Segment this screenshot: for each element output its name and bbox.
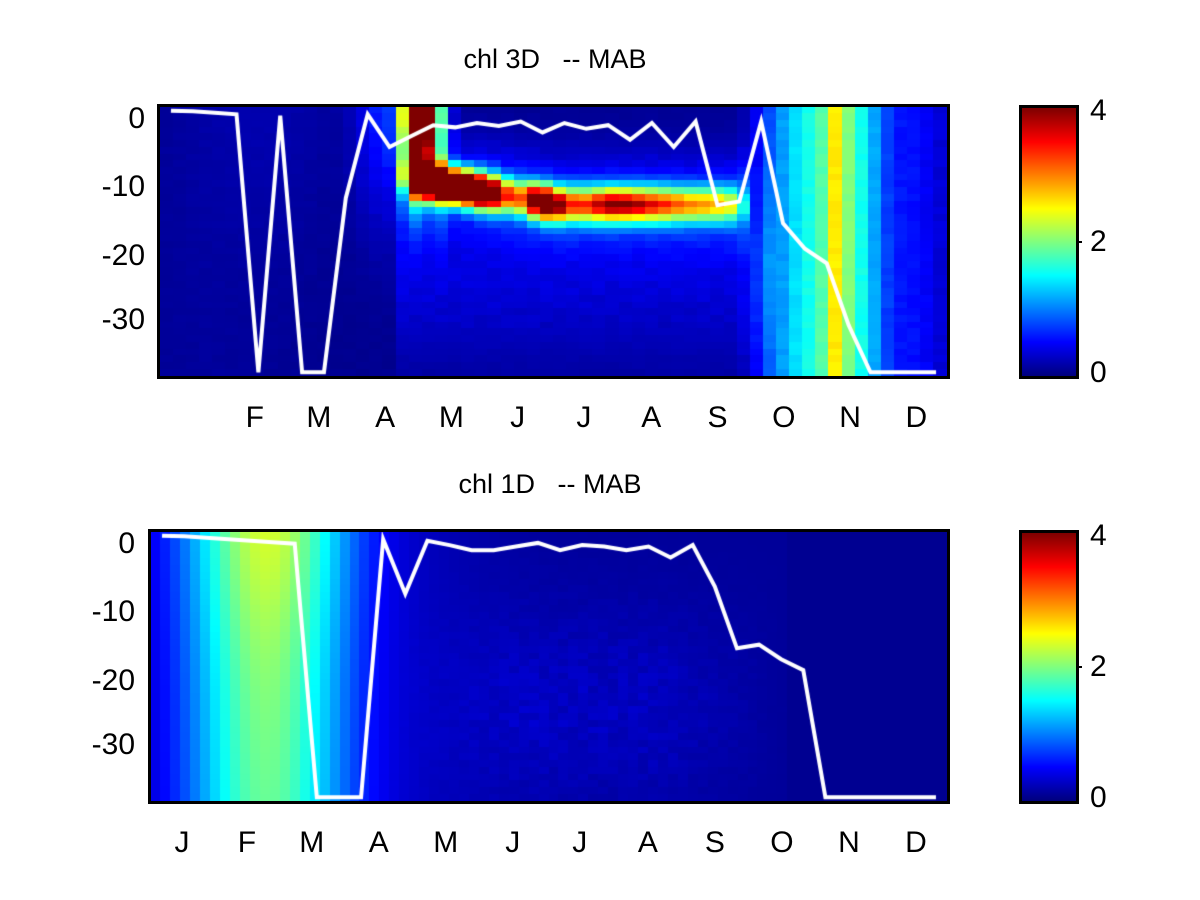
colorbar-top bbox=[1019, 105, 1079, 379]
xtick-chl-1d-N-10: N bbox=[824, 828, 874, 858]
ytick-chl-1d-0: 0 bbox=[50, 529, 135, 559]
ytick-chl-1d-m30: -30 bbox=[50, 730, 135, 760]
xtick-chl-3d-S-7: S bbox=[693, 403, 743, 433]
ytick-chl-3d-m30: -30 bbox=[60, 305, 145, 335]
colorbar-top-tick-2 bbox=[1076, 241, 1082, 243]
figure-root: chl 3D -- MAB 0 -10 -20 -30 FMAMJJASOND … bbox=[0, 0, 1200, 900]
colorbar-bottom-label-2: 2 bbox=[1090, 652, 1107, 682]
xtick-chl-3d-J-4: J bbox=[493, 403, 543, 433]
xtick-chl-3d-A-6: A bbox=[626, 403, 676, 433]
xtick-chl-1d-F-1: F bbox=[222, 828, 272, 858]
ytick-chl-3d-m20: -20 bbox=[60, 241, 145, 271]
colorbar-top-label-2: 2 bbox=[1090, 227, 1107, 257]
heatmap-canvas-chl-1d bbox=[151, 532, 947, 801]
colorbar-bottom bbox=[1019, 530, 1079, 804]
ytick-chl-3d-m10: -10 bbox=[60, 172, 145, 202]
xtick-chl-3d-D-10: D bbox=[891, 403, 941, 433]
ytick-chl-1d-m20: -20 bbox=[50, 666, 135, 696]
colorbar-bottom-label-4: 4 bbox=[1090, 521, 1107, 551]
panel-title-chl-3d: chl 3D -- MAB bbox=[160, 44, 950, 75]
xtick-chl-1d-M-4: M bbox=[421, 828, 471, 858]
xtick-chl-1d-D-11: D bbox=[891, 828, 941, 858]
xtick-chl-1d-A-3: A bbox=[354, 828, 404, 858]
colorbar-bottom-label-0: 0 bbox=[1090, 783, 1107, 813]
xtick-chl-1d-O-9: O bbox=[757, 828, 807, 858]
xtick-chl-3d-J-5: J bbox=[559, 403, 609, 433]
xtick-chl-3d-M-3: M bbox=[426, 403, 476, 433]
ytick-chl-1d-m10: -10 bbox=[50, 597, 135, 627]
xtick-chl-3d-N-9: N bbox=[825, 403, 875, 433]
xtick-chl-1d-S-8: S bbox=[690, 828, 740, 858]
xtick-chl-1d-A-7: A bbox=[623, 828, 673, 858]
axes-chl-1d bbox=[148, 529, 950, 804]
colorbar-canvas-bottom bbox=[1022, 533, 1076, 801]
colorbar-canvas-top bbox=[1022, 108, 1076, 376]
xtick-chl-1d-J-0: J bbox=[157, 828, 207, 858]
colorbar-top-label-0: 0 bbox=[1090, 358, 1107, 388]
colorbar-bottom-tick-2 bbox=[1076, 666, 1082, 668]
panel-title-chl-1d: chl 1D -- MAB bbox=[150, 469, 950, 500]
axes-chl-3d bbox=[157, 104, 950, 379]
ytick-chl-3d-0: 0 bbox=[60, 104, 145, 134]
xtick-chl-3d-O-8: O bbox=[759, 403, 809, 433]
colorbar-top-label-4: 4 bbox=[1090, 96, 1107, 126]
xtick-chl-1d-J-5: J bbox=[488, 828, 538, 858]
xtick-chl-3d-A-2: A bbox=[360, 403, 410, 433]
xtick-chl-1d-J-6: J bbox=[555, 828, 605, 858]
xtick-chl-3d-F-0: F bbox=[230, 403, 280, 433]
heatmap-canvas-chl-3d bbox=[160, 107, 947, 376]
xtick-chl-3d-M-1: M bbox=[294, 403, 344, 433]
xtick-chl-1d-M-2: M bbox=[287, 828, 337, 858]
